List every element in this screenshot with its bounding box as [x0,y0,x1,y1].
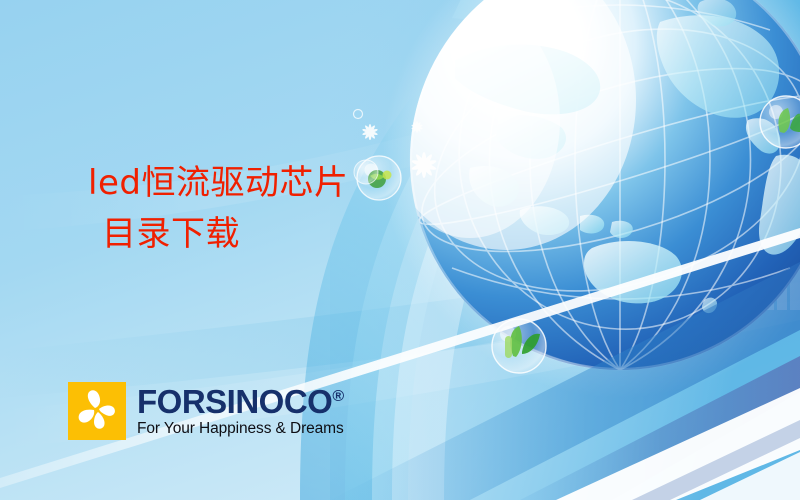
headline-line-2: 目录下载 [88,213,348,256]
registered-trademark-icon: ® [332,388,344,405]
pinwheel-petals-icon [68,382,126,440]
small-ring-decoration [354,110,363,119]
flower-icon-large [411,152,437,178]
headline-text: led恒流驱动芯片 目录下载 [88,162,348,256]
bubble-tiny [354,160,378,184]
headline-line-1: led恒流驱动芯片 [88,162,348,205]
flower-icon-small [411,121,423,133]
logo-wordmark-text: FORSINOCO [137,383,332,420]
flower-icon-medium [362,124,378,140]
bubble-leaf [492,319,546,373]
logo-mark-icon [68,382,126,440]
logo-wordmark: FORSINOCO® [137,385,344,418]
bubble-globe [357,156,401,200]
company-logo: FORSINOCO® For Your Happiness & Dreams [68,382,344,440]
logo-text-block: FORSINOCO® For Your Happiness & Dreams [137,385,344,437]
promo-banner: led恒流驱动芯片 目录下载 FORSINOCO® For Your Happi… [0,0,800,500]
bubble-right-edge [760,96,800,148]
logo-tagline: For Your Happiness & Dreams [137,421,344,437]
